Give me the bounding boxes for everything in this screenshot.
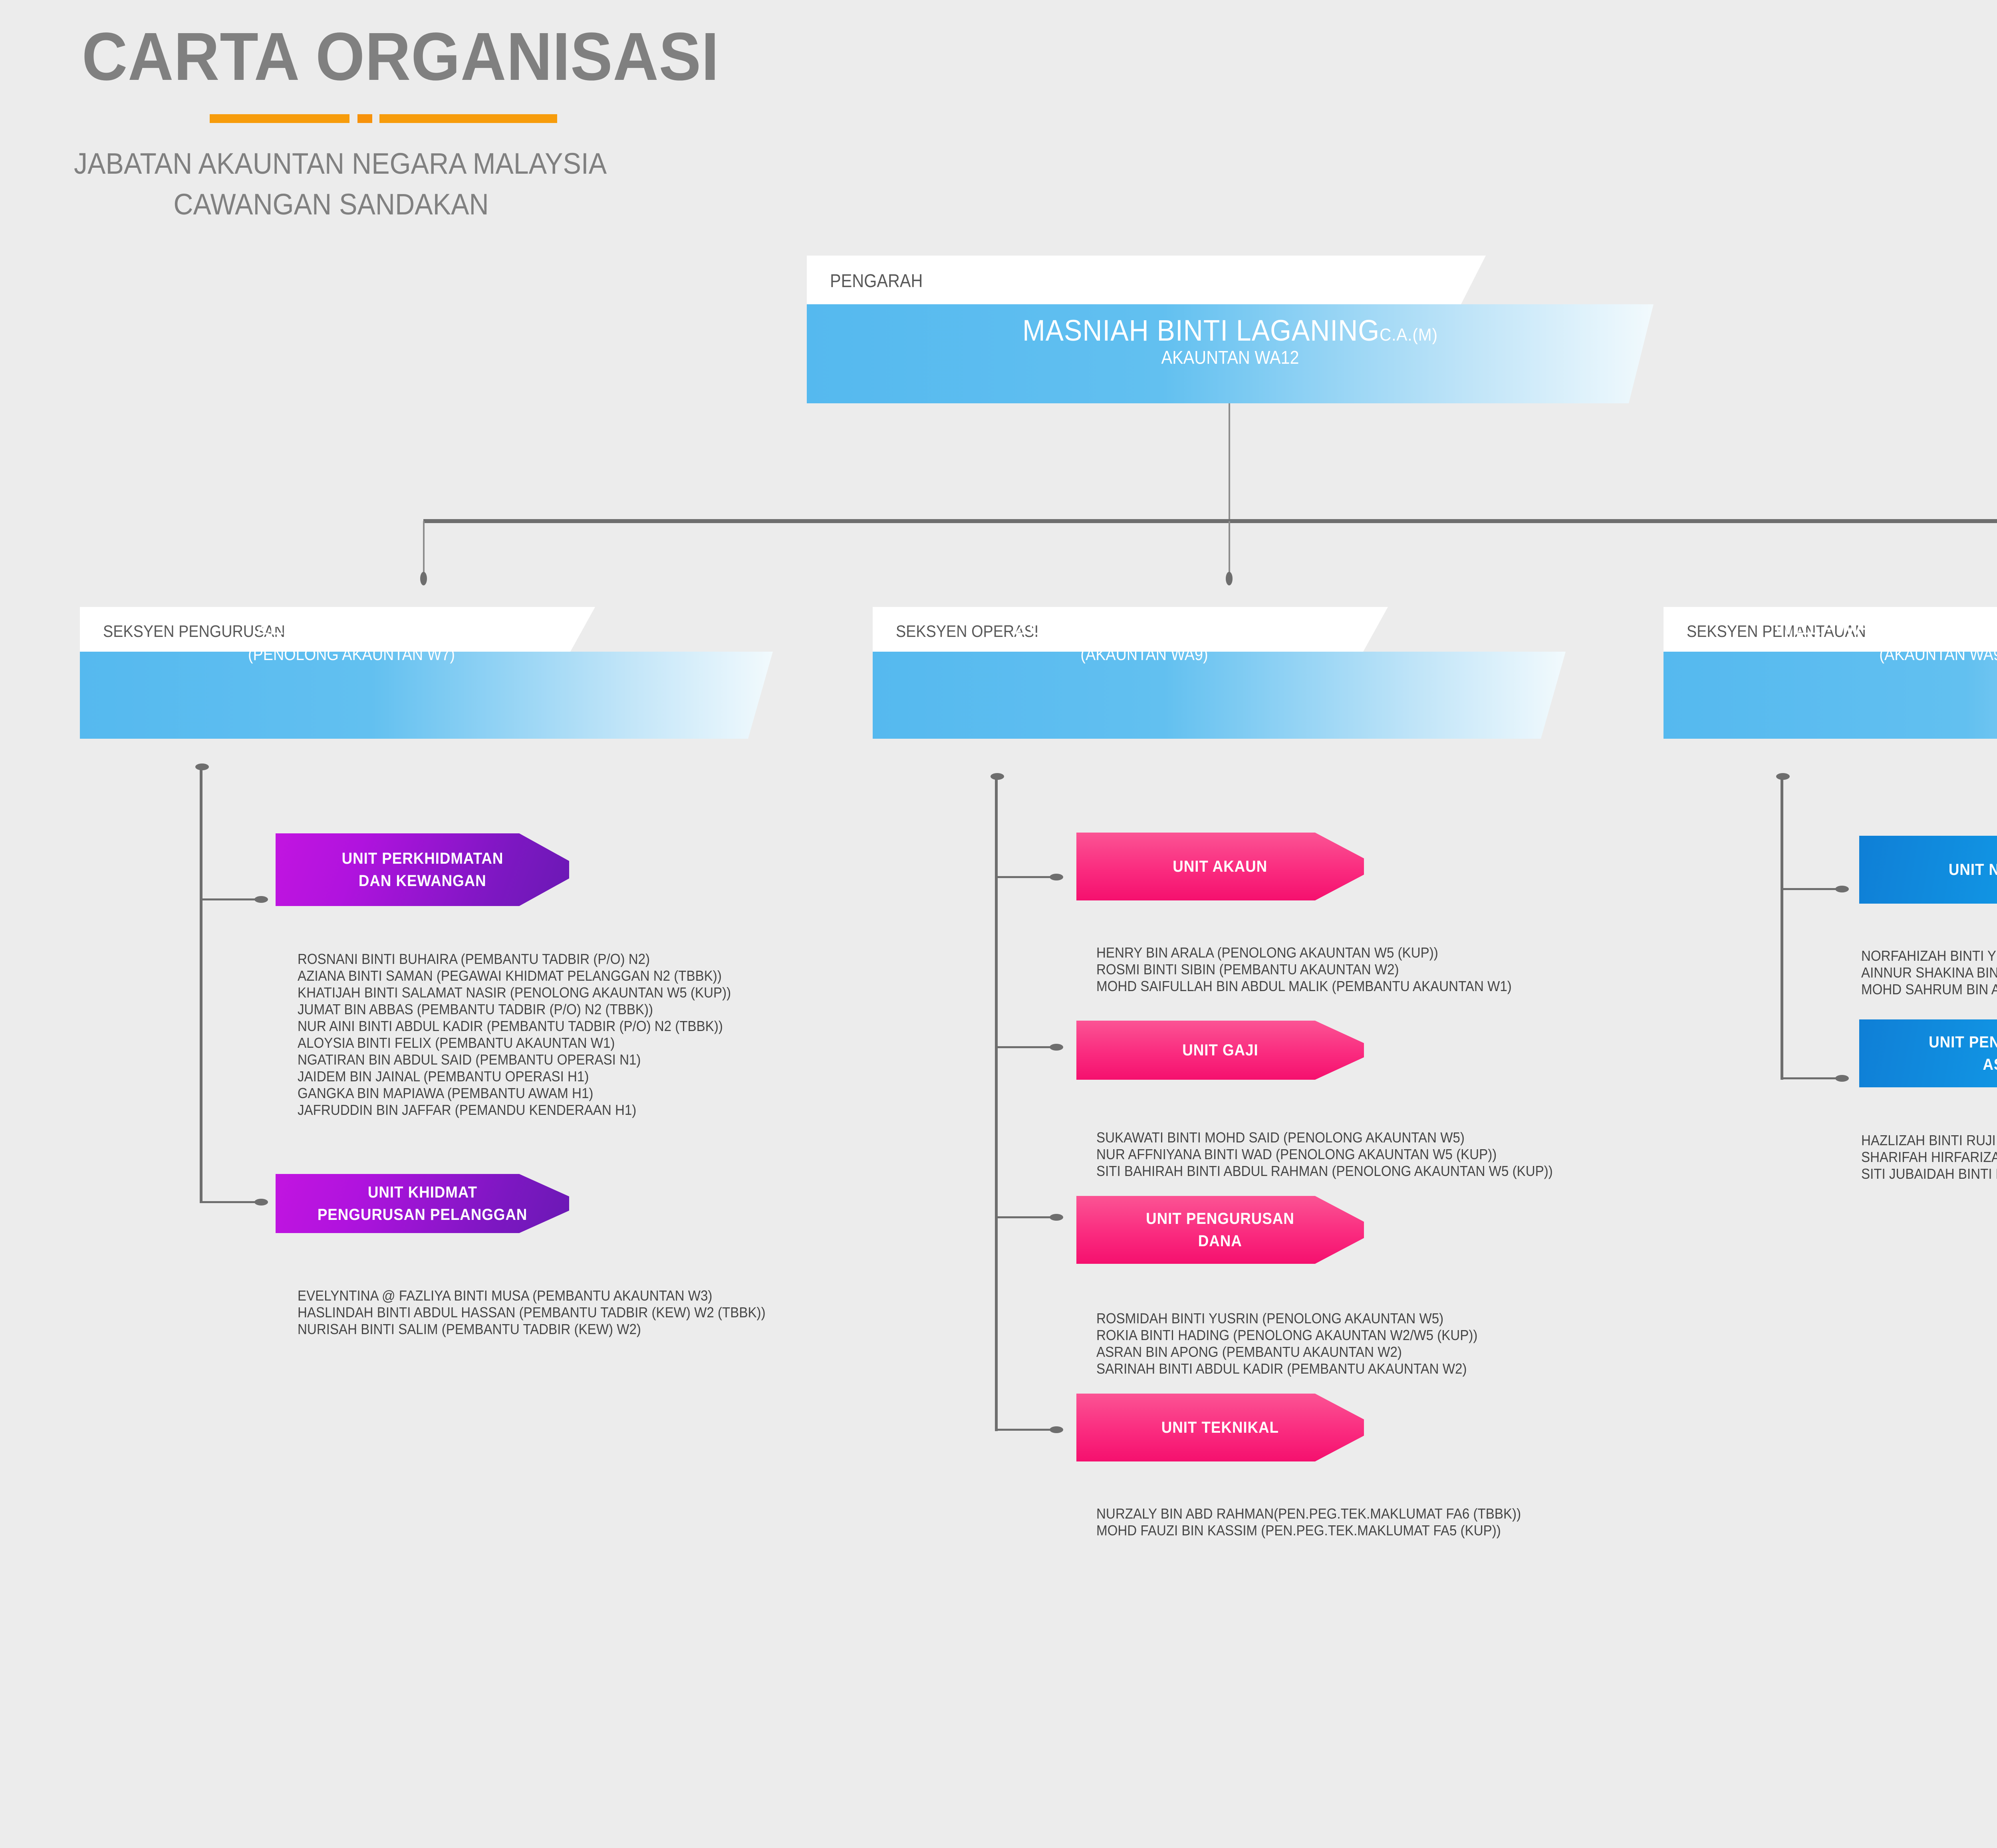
- staff-list-teknikal: NURZALY BIN ABD RAHMAN(PEN.PEG.TEK.MAKLU…: [1096, 1505, 1558, 1539]
- staff-row: SHARIFAH HIRFARIZA BINTI SH MOHTI (PENOL…: [1861, 1149, 1997, 1166]
- section-1-name: ZENO BIN MAGAN: [39, 613, 664, 640]
- director-name: MASNIAH BINTI LAGANINGC.A.(M): [841, 315, 1620, 351]
- director-role: AKAUNTAN WA12: [849, 347, 1611, 367]
- staff-list-akaun: HENRY BIN ARALA (PENOLONG AKAUNTAN W5 (K…: [1096, 944, 1548, 995]
- staff-row: EVELYNTINA @ FAZLIYA BINTI MUSA (PEMBANT…: [298, 1287, 766, 1304]
- section-card-operasi[interactable]: SEKSYEN OPERASI ZULFADHLI BIN TAJUDIN (A…: [873, 607, 1592, 739]
- column-3-branch-1: [1781, 888, 1841, 890]
- unit-card-akaun[interactable]: UNIT AKAUN: [1076, 833, 1364, 900]
- unit-title-line: UNIT PENGURUSAN: [1929, 1031, 1997, 1053]
- unit-card-pengurusan-aset[interactable]: UNIT PENGURUSAN ASET: [1859, 1019, 1997, 1087]
- column-3-arrow-2: [1835, 1075, 1849, 1082]
- staff-row: AINNUR SHAKINA BINTI MOHD KASSIM (PEMBAN…: [1861, 964, 1997, 981]
- column-2-arrow-3: [1050, 1214, 1063, 1221]
- column-1-branch-1: [200, 898, 260, 900]
- column-2-branch-4: [995, 1429, 1056, 1431]
- unit-title-line: UNIT PENGURUSAN: [1146, 1208, 1294, 1230]
- column-1-branch-2: [200, 1201, 260, 1203]
- column-3-arrow-1: [1835, 886, 1849, 892]
- staff-row: ASRAN BIN APONG (PEMBANTU AKAUNTAN W2): [1096, 1344, 1477, 1360]
- section-2-role: (AKAUNTAN WA9): [839, 645, 1450, 664]
- staff-row: ROSMI BINTI SIBIN (PEMBANTU AKAUNTAN W2): [1096, 961, 1512, 978]
- column-2-spine: [995, 776, 998, 1431]
- section-arrow-2: [1226, 572, 1233, 585]
- divider-square: [357, 114, 372, 123]
- staff-row: SUKAWATI BINTI MOHD SAID (PENOLONG AKAUN…: [1096, 1129, 1553, 1146]
- unit-title-line: UNIT AKAUN: [1173, 855, 1268, 878]
- unit-title-line: DANA: [1198, 1230, 1242, 1252]
- staff-list-pengurusan-aset: HAZLIZAH BINTI RUJI (PENOLONG AKAUNTAN W…: [1861, 1132, 1997, 1182]
- sections-bus: [423, 519, 1997, 523]
- subtitle-branch: CAWANGAN SANDAKAN: [74, 188, 588, 220]
- section-3-name-plate: [1664, 652, 1997, 739]
- staff-list-khidmat-pelanggan: EVELYNTINA @ FAZLIYA BINTI MUSA (PEMBANT…: [298, 1287, 806, 1338]
- unit-title-line: UNIT NAZIRAN: [1949, 859, 1997, 881]
- staff-row: HENRY BIN ARALA (PENOLONG AKAUNTAN W5 (K…: [1096, 944, 1512, 961]
- staff-row: MOHD SAHRUM BIN AB PATTAH (PEMBANTU AKAU…: [1861, 981, 1997, 998]
- director-label: PENGARAH: [830, 271, 923, 291]
- staff-row: JUMAT BIN ABBAS (PEMBANTU TADBIR (P/O) N…: [298, 1001, 731, 1018]
- staff-row: JAFRUDDIN BIN JAFFAR (PEMANDU KENDERAAN …: [298, 1102, 731, 1118]
- column-3-spine: [1781, 776, 1783, 1080]
- page-title: CARTA ORGANISASI: [82, 22, 719, 92]
- section-2-name: ZULFADHLI BIN TAJUDIN: [832, 613, 1457, 640]
- staff-row: MOHD FAUZI BIN KASSIM (PEN.PEG.TEK.MAKLU…: [1096, 1522, 1521, 1539]
- section-1-role: (PENOLONG AKAUNTAN W7): [46, 645, 657, 664]
- staff-list-naziran: NORFAHIZAH BINTI YUSOF (PENOLONG AKAUNTA…: [1861, 948, 1997, 998]
- column-2-branch-2: [995, 1046, 1056, 1048]
- staff-list-pengurusan-dana: ROSMIDAH BINTI YUSRIN (PENOLONG AKAUNTAN…: [1096, 1310, 1511, 1377]
- column-1-arrow-2: [254, 1199, 268, 1206]
- staff-row: ROSMIDAH BINTI YUSRIN (PENOLONG AKAUNTAN…: [1096, 1310, 1477, 1327]
- unit-title-line: UNIT TEKNIKAL: [1161, 1416, 1279, 1439]
- unit-title-line: ASET: [1983, 1053, 1997, 1076]
- staff-row: AZIANA BINTI SAMAN (PEGAWAI KHIDMAT PELA…: [298, 968, 731, 984]
- unit-card-khidmat-pelanggan[interactable]: UNIT KHIDMAT PENGURUSAN PELANGGAN: [276, 1174, 569, 1233]
- staff-list-gaji: SUKAWATI BINTI MOHD SAID (PENOLONG AKAUN…: [1096, 1129, 1592, 1180]
- director-name-suffix: C.A.(M): [1380, 325, 1438, 345]
- staff-row: SITI BAHIRAH BINTI ABDUL RAHMAN (PENOLON…: [1096, 1163, 1553, 1180]
- unit-title-line: DAN KEWANGAN: [359, 870, 486, 892]
- unit-card-teknikal[interactable]: UNIT TEKNIKAL: [1076, 1394, 1364, 1461]
- title-divider: [210, 114, 633, 123]
- column-2-branch-1: [995, 876, 1056, 878]
- column-2-arrow-1: [1050, 874, 1063, 880]
- column-1-arrow-1: [254, 896, 268, 903]
- section-1-name-plate: [80, 652, 773, 739]
- staff-row: NURZALY BIN ABD RAHMAN(PEN.PEG.TEK.MAKLU…: [1096, 1505, 1521, 1522]
- section-3-role: (AKAUNTAN WA9): [1638, 645, 1997, 664]
- section-card-pemantauan[interactable]: SEKSYEN PEMANTAUAN WELAWATY BINTI ENGIT@…: [1664, 607, 1997, 739]
- column-2-branch-3: [995, 1216, 1056, 1218]
- staff-row: KHATIJAH BINTI SALAMAT NASIR (PENOLONG A…: [298, 984, 731, 1001]
- divider-bar-right: [379, 114, 557, 123]
- org-chart-canvas: CARTA ORGANISASI JABATAN AKAUNTAN NEGARA…: [0, 0, 1997, 1848]
- staff-row: NORFAHIZAH BINTI YUSOF (PENOLONG AKAUNTA…: [1861, 948, 1997, 964]
- column-2-arrow-4: [1050, 1426, 1063, 1433]
- unit-card-gaji[interactable]: UNIT GAJI: [1076, 1021, 1364, 1080]
- staff-row: MOHD SAIFULLAH BIN ABDUL MALIK (PEMBANTU…: [1096, 978, 1512, 995]
- director-stem: [1229, 403, 1230, 521]
- staff-row: ALOYSIA BINTI FELIX (PEMBANTU AKAUNTAN W…: [298, 1035, 731, 1051]
- column-1-spine: [200, 767, 202, 1203]
- unit-title-line: UNIT PERKHIDMATAN: [341, 847, 503, 870]
- staff-row: ROKIA BINTI HADING (PENOLONG AKAUNTAN W2…: [1096, 1327, 1477, 1344]
- unit-title-line: UNIT GAJI: [1182, 1039, 1258, 1061]
- unit-card-pengurusan-dana[interactable]: UNIT PENGURUSAN DANA: [1076, 1196, 1364, 1264]
- staff-row: NGATIRAN BIN ABDUL SAID (PEMBANTU OPERAS…: [298, 1051, 731, 1068]
- staff-row: NURISAH BINTI SALIM (PEMBANTU TADBIR (KE…: [298, 1321, 766, 1338]
- unit-card-perkhidmatan[interactable]: UNIT PERKHIDMATAN DAN KEWANGAN: [276, 833, 569, 906]
- staff-row: NUR AFFNIYANA BINTI WAD (PENOLONG AKAUNT…: [1096, 1146, 1553, 1163]
- header-block: CARTA ORGANISASI JABATAN AKAUNTAN NEGARA…: [0, 0, 879, 256]
- unit-title-line: UNIT KHIDMAT: [367, 1181, 477, 1204]
- section-drop-1: [423, 521, 425, 579]
- director-card[interactable]: PENGARAH MASNIAH BINTI LAGANINGC.A.(M) A…: [807, 256, 1654, 403]
- column-2-arrow-2: [1050, 1044, 1063, 1051]
- staff-row: HASLINDAH BINTI ABDUL HASSAN (PEMBANTU T…: [298, 1304, 766, 1321]
- staff-row: ROSNANI BINTI BUHAIRA (PEMBANTU TADBIR (…: [298, 951, 731, 968]
- staff-row: GANGKA BIN MAPIAWA (PEMBANTU AWAM H1): [298, 1085, 731, 1102]
- staff-row: JAIDEM BIN JAINAL (PEMBANTU OPERASI H1): [298, 1068, 731, 1085]
- section-card-pengurusan[interactable]: SEKSYEN PENGURUSAN ZENO BIN MAGAN (PENOL…: [80, 607, 799, 739]
- section-2-name-plate: [873, 652, 1566, 739]
- unit-title-line: PENGURUSAN PELANGGAN: [318, 1204, 527, 1226]
- director-name-text: MASNIAH BINTI LAGANING: [1022, 314, 1380, 347]
- divider-bar-left: [210, 114, 349, 123]
- staff-row: SITI JUBAIDAH BINTI BUJANG (PEMBANTU AKA…: [1861, 1166, 1997, 1182]
- subtitle-department: JABATAN AKAUNTAN NEGARA MALAYSIA: [74, 148, 607, 180]
- unit-card-naziran[interactable]: UNIT NAZIRAN: [1859, 836, 1997, 904]
- staff-row: HAZLIZAH BINTI RUJI (PENOLONG AKAUNTAN W…: [1861, 1132, 1997, 1149]
- section-arrow-1: [420, 572, 427, 585]
- column-3-branch-2: [1781, 1077, 1841, 1079]
- staff-row: NUR AINI BINTI ABDUL KADIR (PEMBANTU TAD…: [298, 1018, 731, 1035]
- section-3-name: WELAWATY BINTI ENGIT@INGIT: [1631, 613, 1997, 640]
- staff-list-perkhidmatan: ROSNANI BINTI BUHAIRA (PEMBANTU TADBIR (…: [298, 951, 769, 1118]
- staff-row: SARINAH BINTI ABDUL KADIR (PEMBANTU AKAU…: [1096, 1360, 1477, 1377]
- section-drop-2: [1229, 521, 1230, 579]
